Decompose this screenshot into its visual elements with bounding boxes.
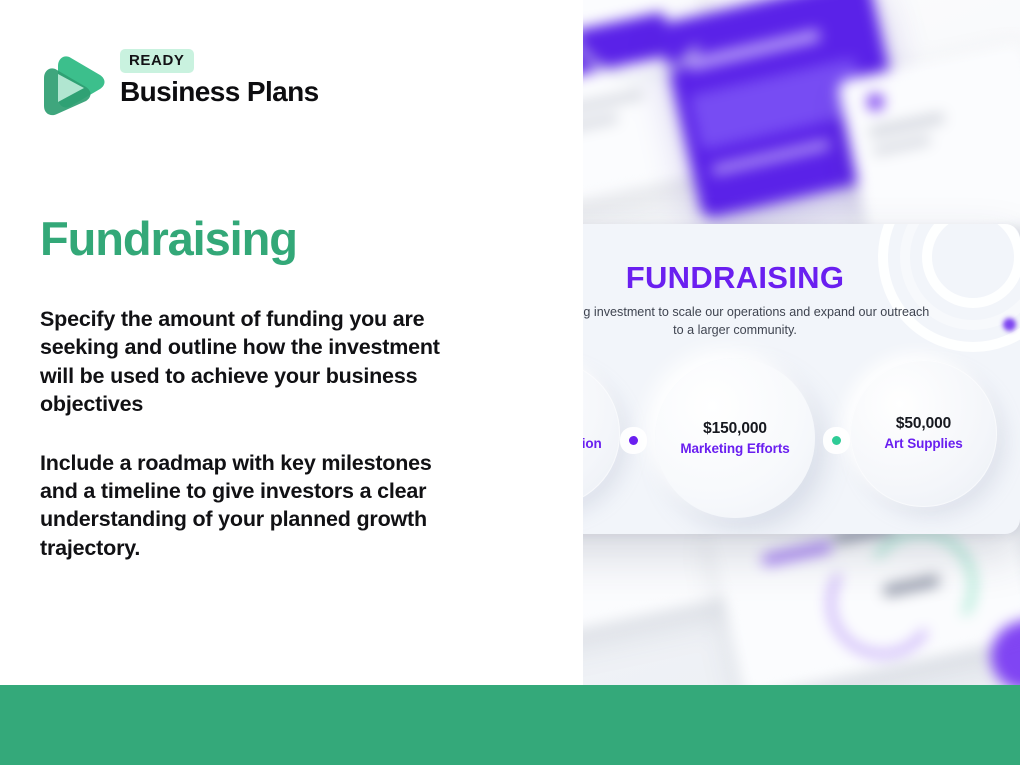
connector-dot-right — [832, 436, 841, 445]
paragraph-2: Include a roadmap with key milestones an… — [40, 449, 440, 563]
content-column: READY Business Plans Fundraising Specify… — [0, 0, 583, 765]
node-label: Art Supplies — [884, 435, 962, 453]
card-title: FUNDRAISING — [583, 260, 1020, 296]
center-circle-body: $150,000 Marketing Efforts — [655, 358, 815, 518]
node-amount: $50,000 — [896, 414, 951, 433]
paragraph-1: Specify the amount of funding you are se… — [40, 305, 440, 419]
play-triangle-logo-icon — [40, 40, 106, 116]
page-title: Fundraising — [40, 214, 297, 263]
node-label: Space Expansion — [583, 435, 602, 453]
fundraising-slide-card[interactable]: FUNDRAISING Securing investment to scale… — [583, 224, 1020, 534]
deck-preview-panel: FUNDRAISING Securing investment to scale… — [583, 0, 1020, 685]
funding-node-space-expansion[interactable]: $150,000 Space Expansion — [583, 360, 620, 507]
connector-dot-left — [629, 436, 638, 445]
funding-node-marketing-efforts[interactable]: $150,000 Marketing Efforts — [629, 332, 841, 534]
node-label: Marketing Efforts — [680, 440, 789, 458]
node-amount: $150,000 — [703, 419, 767, 438]
brand-name: Business Plans — [120, 77, 319, 108]
footer-band — [0, 685, 1020, 765]
funding-nodes-row: $150,000 Space Expansion $150,000 Market… — [583, 344, 1020, 524]
brand-lockup[interactable]: READY Business Plans — [40, 40, 319, 116]
funding-node-art-supplies[interactable]: $50,000 Art Supplies — [850, 360, 997, 507]
ready-badge: READY — [120, 49, 194, 73]
body-copy: Specify the amount of funding you are se… — [40, 305, 440, 562]
decorative-dot — [1003, 318, 1016, 331]
brand-text: READY Business Plans — [120, 49, 319, 108]
slide-page: FUNDRAISING Securing investment to scale… — [0, 0, 1020, 765]
